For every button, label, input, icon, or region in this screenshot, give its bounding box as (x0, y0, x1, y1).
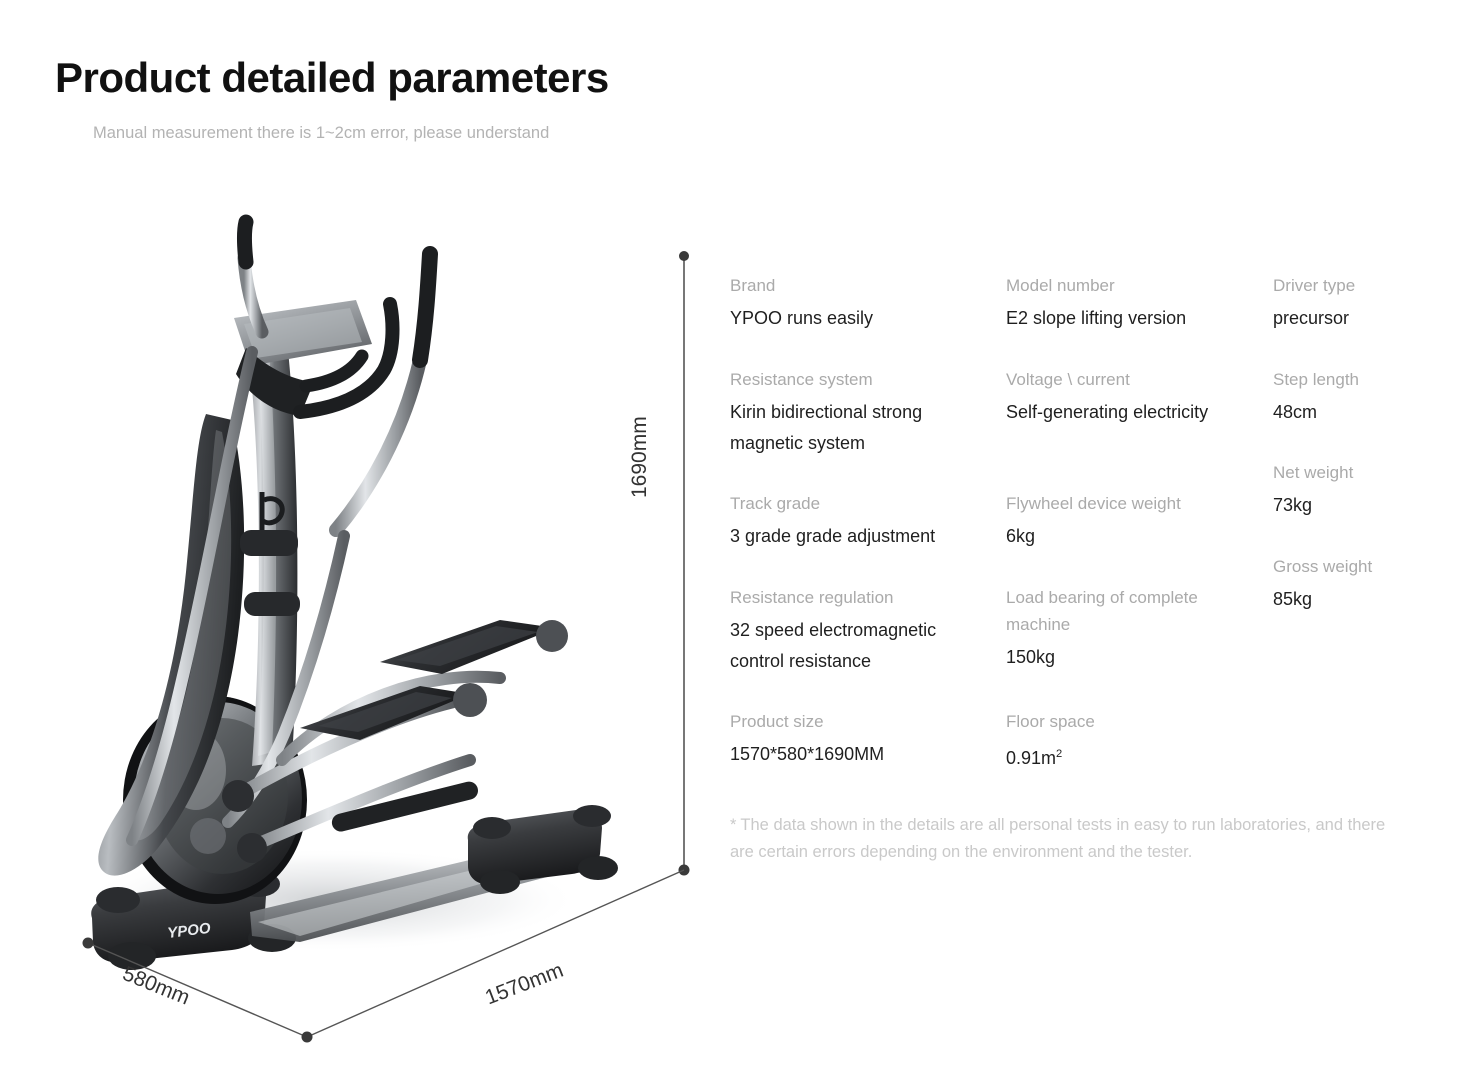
spec-item-gross-weight: Gross weight 85kg (1273, 553, 1433, 615)
foot-pedals (300, 620, 568, 833)
spec-value: 32 speed electromagnetic control resista… (730, 615, 992, 677)
spec-item-brand: Brand YPOO runs easily (730, 272, 992, 334)
spec-label: Resistance regulation (730, 584, 992, 611)
spec-item-track-grade: Track grade 3 grade grade adjustment (730, 490, 992, 552)
spec-value: YPOO runs easily (730, 303, 992, 334)
spec-value: 0.91m2 (1006, 739, 1264, 774)
spec-item-net-weight: Net weight 73kg (1273, 459, 1433, 521)
spec-value: Self-generating electricity (1006, 397, 1264, 428)
floor-space-superscript: 2 (1056, 748, 1062, 760)
floor-space-number: 0.91m (1006, 748, 1056, 768)
spec-label: Brand (730, 272, 992, 299)
spec-label: Gross weight (1273, 553, 1433, 580)
spec-item-step-length: Step length 48cm (1273, 366, 1433, 428)
spec-value: 3 grade grade adjustment (730, 521, 992, 552)
footnote-text: The data shown in the details are all pe… (730, 816, 1385, 861)
spec-value: 6kg (1006, 521, 1264, 552)
spec-item-resistance-regulation: Resistance regulation 32 speed electroma… (730, 584, 992, 677)
spec-value: 85kg (1273, 584, 1433, 615)
spec-value: Kirin bidirectional strong magnetic syst… (730, 397, 992, 459)
spec-value: 150kg (1006, 642, 1264, 673)
spec-item-flywheel-weight: Flywheel device weight 6kg (1006, 490, 1264, 552)
spec-item-load-bearing: Load bearing of complete machine 150kg (1006, 584, 1264, 673)
spec-item-floor-space: Floor space 0.91m2 (1006, 708, 1264, 774)
spec-value: 1570*580*1690MM (730, 739, 992, 770)
spec-item-resistance-system: Resistance system Kirin bidirectional st… (730, 366, 992, 459)
spec-label: Track grade (730, 490, 992, 517)
spec-label: Net weight (1273, 459, 1433, 486)
spec-label: Model number (1006, 272, 1264, 299)
spec-value: precursor (1273, 303, 1433, 334)
spec-label: Flywheel device weight (1006, 490, 1264, 517)
spec-item-driver-type: Driver type precursor (1273, 272, 1433, 334)
spec-label: Resistance system (730, 366, 992, 393)
spec-label: Product size (730, 708, 992, 735)
spec-label: Load bearing of complete machine (1006, 584, 1264, 638)
page-subtitle: Manual measurement there is 1~2cm error,… (93, 124, 549, 143)
spec-label: Driver type (1273, 272, 1433, 299)
footnote-marker: * (730, 816, 736, 834)
spec-value: E2 slope lifting version (1006, 303, 1264, 334)
elliptical-trainer-illustration: YPOO (0, 200, 700, 1080)
height-dimension-label: 1690mm (628, 416, 652, 498)
spec-label: Step length (1273, 366, 1433, 393)
spec-label: Voltage \ current (1006, 366, 1264, 393)
spec-value: 73kg (1273, 490, 1433, 521)
spec-item-voltage-current: Voltage \ current Self-generating electr… (1006, 366, 1264, 428)
spec-label: Floor space (1006, 708, 1264, 735)
product-image-panel: YPOO (0, 200, 700, 1080)
page-title: Product detailed parameters (55, 54, 609, 102)
spec-item-product-size: Product size 1570*580*1690MM (730, 708, 992, 770)
footnote: *The data shown in the details are all p… (730, 812, 1400, 866)
spec-item-model-number: Model number E2 slope lifting version (1006, 272, 1264, 334)
spec-value: 48cm (1273, 397, 1433, 428)
